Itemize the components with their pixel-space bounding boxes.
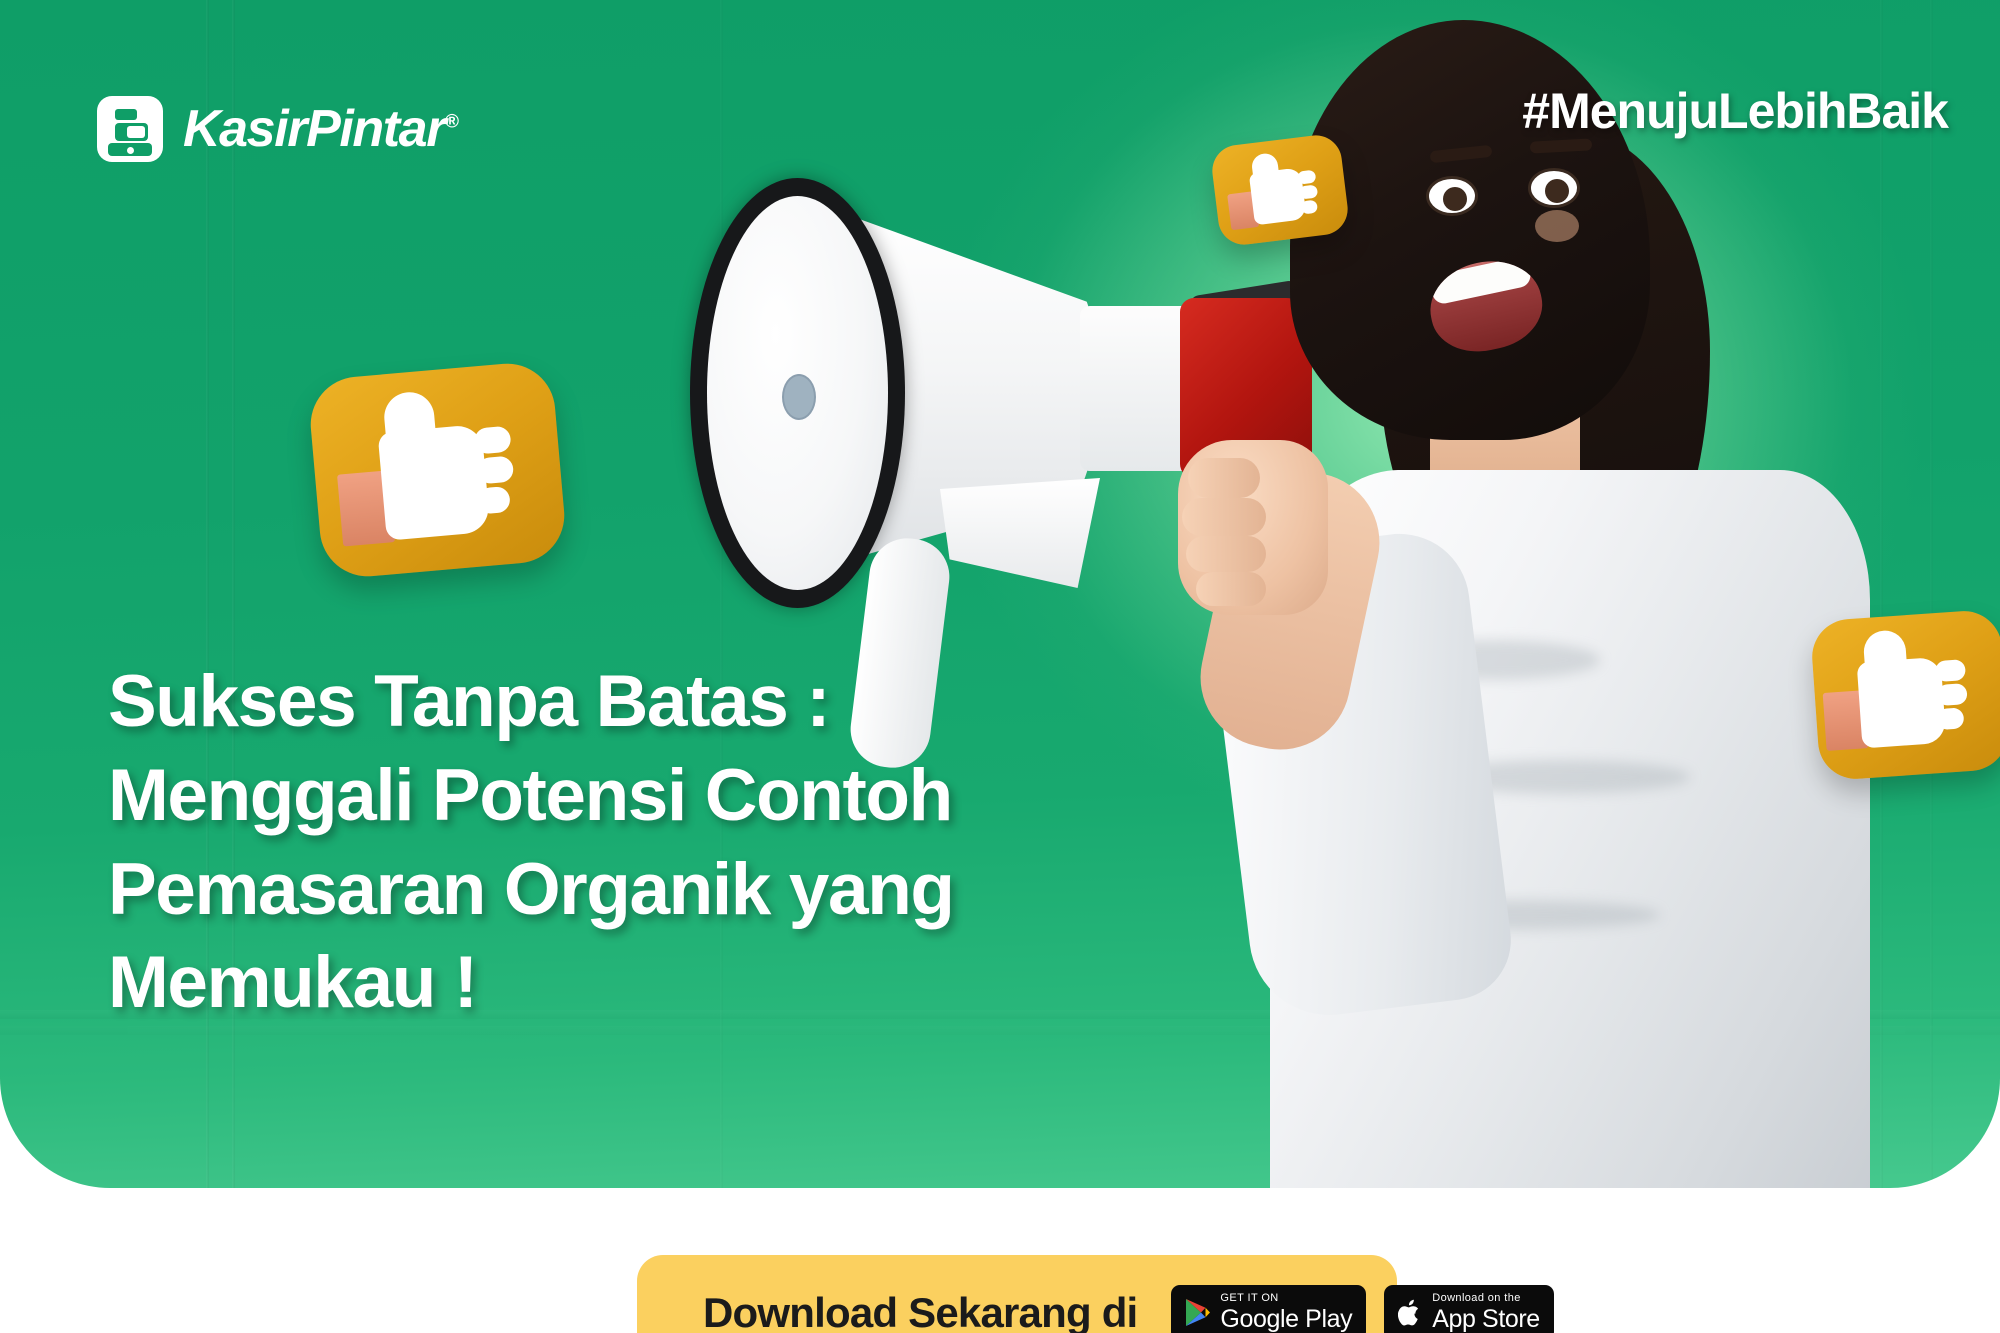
registered-trademark-mark: ®	[445, 112, 459, 133]
thumbs-up-emoji-left	[307, 360, 568, 581]
megaphone-center-dot	[782, 374, 816, 420]
apple-logo-icon	[1398, 1298, 1423, 1328]
headline-line-4: Memukau !	[108, 936, 1298, 1030]
cash-register-icon	[97, 96, 163, 162]
campaign-hashtag: #MenujuLebihBaik	[1522, 82, 1948, 140]
thumbs-up-icon	[1810, 609, 2000, 782]
headline-line-2: Menggali Potensi Contoh	[108, 749, 1298, 843]
store-badges: GET IT ON Google Play Download on the Ap…	[1171, 1285, 1553, 1333]
download-cta-bar: Download Sekarang di GET IT ON Google Pl…	[637, 1255, 1397, 1333]
hero-panel: KasirPintar® #MenujuLebihBaik Sukses Tan…	[0, 0, 2000, 1188]
google-play-icon	[1185, 1298, 1211, 1327]
thumbs-up-icon	[1209, 132, 1350, 247]
brand-name-text: KasirPintar	[183, 100, 445, 158]
google-play-badge[interactable]: GET IT ON Google Play	[1171, 1285, 1366, 1333]
page-title: Sukses Tanpa Batas : Menggali Potensi Co…	[108, 655, 1298, 1030]
headline-line-1: Sukses Tanpa Batas :	[108, 655, 1298, 749]
poster-canvas: KasirPintar® #MenujuLebihBaik Sukses Tan…	[0, 0, 2000, 1333]
thumbs-up-emoji-top	[1209, 132, 1350, 247]
google-play-badge-small-text: GET IT ON	[1220, 1293, 1352, 1304]
thumbs-up-icon	[307, 360, 568, 581]
thumbs-up-emoji-right	[1810, 609, 2000, 782]
download-label: Download Sekarang di	[703, 1289, 1137, 1333]
brand-name: KasirPintar®	[183, 103, 459, 155]
app-store-badge-small-text: Download on the	[1432, 1293, 1540, 1304]
google-play-badge-label: Google Play	[1220, 1307, 1352, 1332]
brand-logo[interactable]: KasirPintar®	[97, 96, 459, 162]
headline-line-3: Pemasaran Organik yang	[108, 843, 1298, 937]
app-store-badge[interactable]: Download on the App Store	[1384, 1285, 1554, 1333]
app-store-badge-label: App Store	[1432, 1307, 1540, 1332]
